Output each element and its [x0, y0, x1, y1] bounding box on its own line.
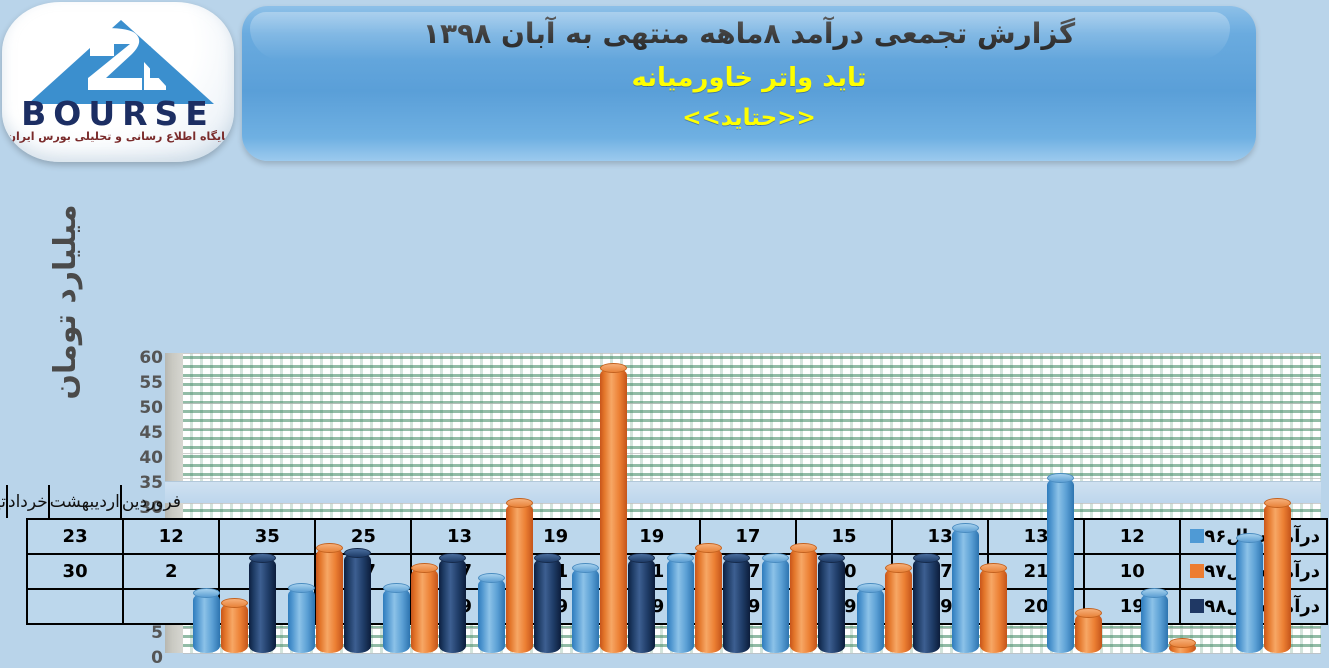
table-cell: 12	[1085, 519, 1181, 554]
bar-2	[601, 368, 628, 653]
bar-cap	[289, 583, 316, 593]
bar-cap	[384, 583, 411, 593]
bar-2	[507, 503, 534, 653]
bar-cap	[479, 573, 506, 583]
bar-cap	[345, 548, 372, 558]
bar-2	[981, 568, 1008, 653]
y-tick-label: 60	[108, 350, 164, 367]
bar-cap	[250, 553, 277, 563]
bar-3	[250, 558, 277, 653]
bar-cap	[629, 553, 656, 563]
bar-3	[440, 558, 467, 653]
bar-cap	[412, 563, 439, 573]
table-cell: 23	[28, 519, 124, 554]
bar-2	[1076, 613, 1103, 653]
logo-wordmark: BOURSE	[3, 94, 235, 133]
bar-cap	[1142, 588, 1169, 598]
bar-cap	[696, 543, 723, 553]
bar-3	[914, 558, 941, 653]
bar-3	[629, 558, 656, 653]
bar-2	[412, 568, 439, 653]
y-tick-label: 0	[108, 650, 164, 667]
header-bar: BOURSE پایگاه اطلاع رسانی و تحلیلی بورس …	[0, 0, 1329, 172]
legend-swatch-icon	[1191, 599, 1205, 613]
bar-1	[573, 568, 600, 653]
bar-1	[194, 593, 221, 653]
bar-cap	[601, 363, 628, 373]
logo-subtitle: پایگاه اطلاع رسانی و تحلیلی بورس ایران	[3, 130, 235, 143]
bar-cap	[668, 553, 695, 563]
legend-swatch-icon	[1191, 564, 1205, 578]
bar-2	[317, 548, 344, 653]
bar-cap	[194, 588, 221, 598]
bar-cap	[724, 553, 751, 563]
month-header-cell: فروردین	[122, 485, 182, 518]
bar-1	[1237, 538, 1264, 653]
bar-cap	[858, 583, 885, 593]
table-cell: 35	[220, 519, 316, 554]
bar-3	[724, 558, 751, 653]
bar-cap	[1265, 498, 1292, 508]
bar-1	[953, 528, 980, 653]
table-cell: 13	[412, 519, 508, 554]
bar-1	[289, 588, 316, 653]
bar-1	[668, 558, 695, 653]
company-name: تاید واتر خاورمیانه	[243, 64, 1257, 93]
bar-cap	[981, 563, 1008, 573]
bar-cap	[819, 553, 846, 563]
bar-cap	[1170, 638, 1197, 648]
table-cell: 12	[124, 519, 220, 554]
bar-cap	[535, 553, 562, 563]
bar-cap	[886, 563, 913, 573]
bar-3	[345, 553, 372, 653]
y-tick-label: 55	[108, 375, 164, 392]
bar-cap	[573, 563, 600, 573]
chart-area: میلیارد تومان 605550454035302520151050	[0, 172, 1329, 502]
bar-cap	[1048, 473, 1075, 483]
y-tick-label: 40	[108, 450, 164, 467]
bar-cap	[953, 523, 980, 533]
bar-cap	[222, 598, 249, 608]
bar-cap	[507, 498, 534, 508]
bar-3	[819, 558, 846, 653]
bar-cap	[1076, 608, 1103, 618]
bar-2	[1265, 503, 1292, 653]
y-tick-label: 50	[108, 400, 164, 417]
bar-2	[222, 603, 249, 653]
ticker-symbol: <<حتاید>>	[243, 106, 1257, 132]
bar-2	[886, 568, 913, 653]
bar-cap	[791, 543, 818, 553]
table-cell	[28, 589, 124, 624]
table-cell: 30	[28, 554, 124, 589]
table-row: درآمد سال۹۶121313151719191325351223	[28, 519, 1328, 554]
month-header-cell: اردیبهشت	[50, 485, 122, 518]
bar-1	[384, 588, 411, 653]
gridline	[184, 653, 1322, 654]
bar-cap	[317, 543, 344, 553]
bar-3	[535, 558, 562, 653]
y-tick-label: 45	[108, 425, 164, 442]
header-title-plate: گزارش تجمعی درآمد ۸ماهه منتهی به آبان ۱۳…	[243, 6, 1257, 161]
bar-2	[696, 548, 723, 653]
logo: BOURSE پایگاه اطلاع رسانی و تحلیلی بورس …	[3, 2, 235, 162]
bar-cap	[914, 553, 941, 563]
legend-swatch-icon	[1191, 529, 1205, 543]
bar-1	[858, 588, 885, 653]
bar-1	[479, 578, 506, 653]
bar-cap	[763, 553, 790, 563]
month-header-cell: خرداد	[8, 485, 50, 518]
table-cell: 2	[124, 554, 220, 589]
month-header-row: فروردیناردیبهشتخردادتیرمردادشهریورمهرآبا…	[0, 485, 182, 518]
bar-cap	[440, 553, 467, 563]
bar-1	[1048, 478, 1075, 653]
bar-1	[763, 558, 790, 653]
table-cell: 10	[1085, 554, 1181, 589]
report-title: گزارش تجمعی درآمد ۸ماهه منتهی به آبان ۱۳…	[243, 18, 1257, 49]
bar-cap	[1237, 533, 1264, 543]
bar-1	[1142, 593, 1169, 653]
y-axis-title: میلیارد تومان	[44, 182, 90, 422]
bar-2	[791, 548, 818, 653]
month-header-cell: تیر	[0, 485, 8, 518]
